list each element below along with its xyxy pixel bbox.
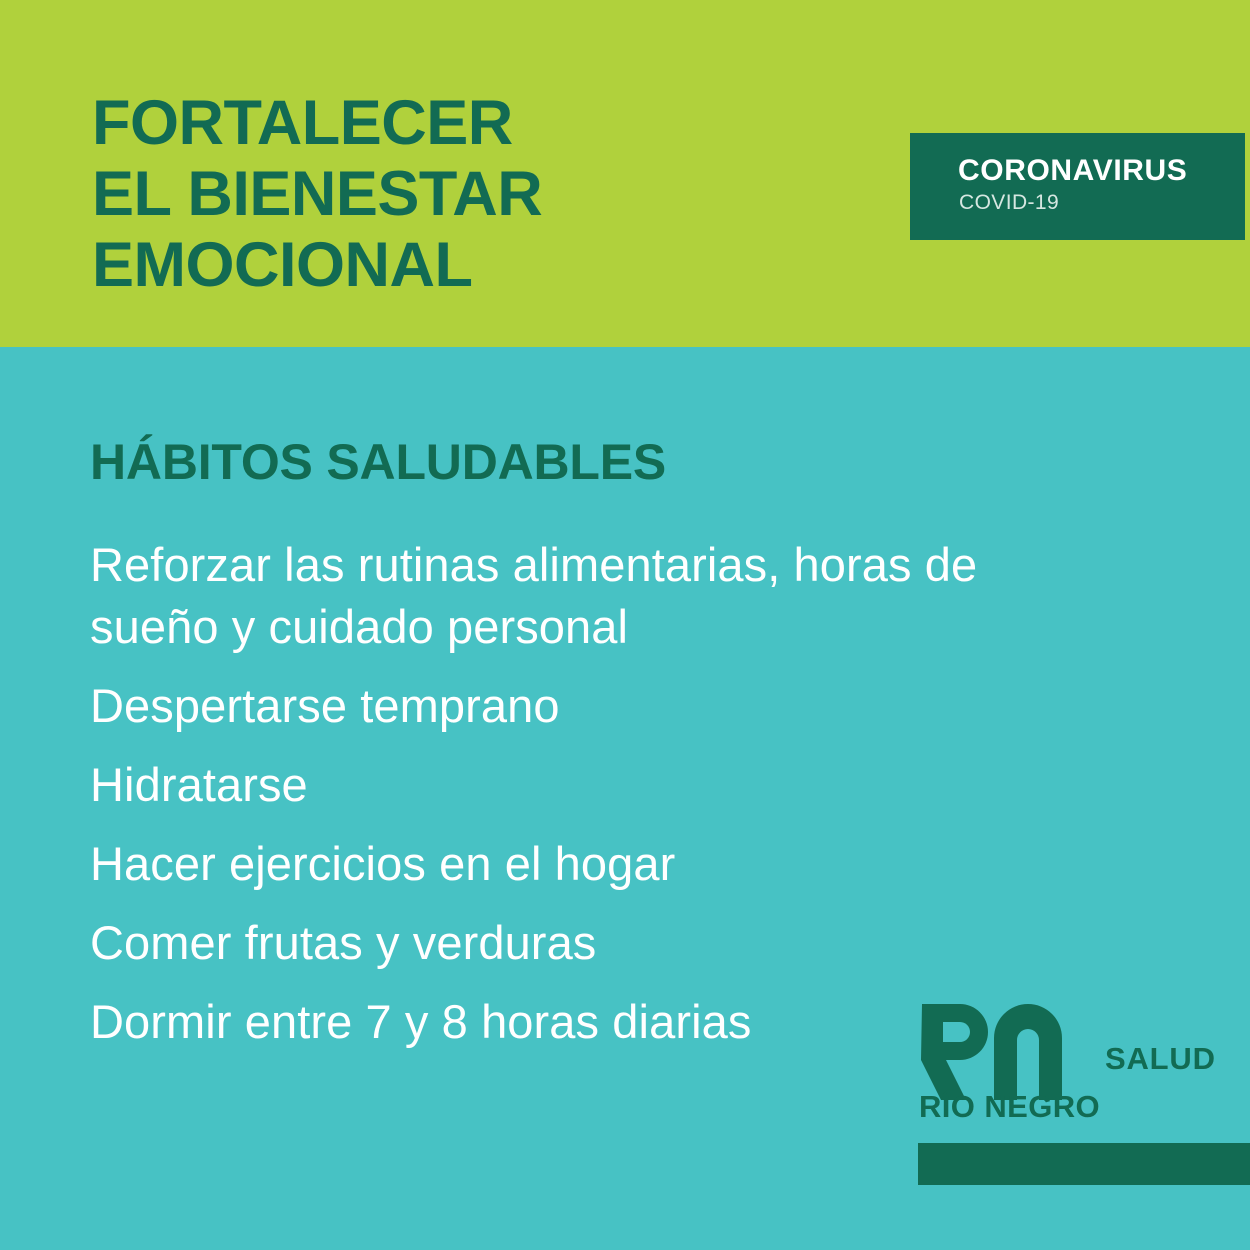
title-line-3: EMOCIONAL <box>92 230 852 301</box>
coronavirus-badge-subtitle: COVID-19 <box>959 191 1059 215</box>
logo-department-label: SALUD <box>1105 1042 1216 1076</box>
title-line-2: EL BIENESTAR <box>92 159 852 230</box>
coronavirus-badge-title: CORONAVIRUS <box>958 154 1187 188</box>
section-heading: HÁBITOS SALUDABLES <box>90 433 666 491</box>
healthy-habits-list: Reforzar las rutinas alimentarias, horas… <box>90 534 1100 1053</box>
title-line-1: FORTALECER <box>92 88 852 159</box>
list-item: Comer frutas y verduras <box>90 912 1080 974</box>
rio-negro-salud-logo: SALUD RÍO NEGRO <box>918 998 1250 1250</box>
list-item: Hacer ejercicios en el hogar <box>90 833 1080 895</box>
rn-monogram-icon <box>918 998 1070 1100</box>
list-item: Despertarse temprano <box>90 675 1080 737</box>
logo-province-label: RÍO NEGRO <box>919 1090 1100 1124</box>
coronavirus-badge: CORONAVIRUS COVID-19 <box>910 133 1245 240</box>
list-item: Reforzar las rutinas alimentarias, horas… <box>90 534 1080 658</box>
list-item: Hidratarse <box>90 754 1080 816</box>
page-title: FORTALECER EL BIENESTAR EMOCIONAL <box>92 88 852 301</box>
footer-accent-bar <box>918 1143 1250 1185</box>
poster-canvas: FORTALECER EL BIENESTAR EMOCIONAL CORONA… <box>0 0 1250 1250</box>
